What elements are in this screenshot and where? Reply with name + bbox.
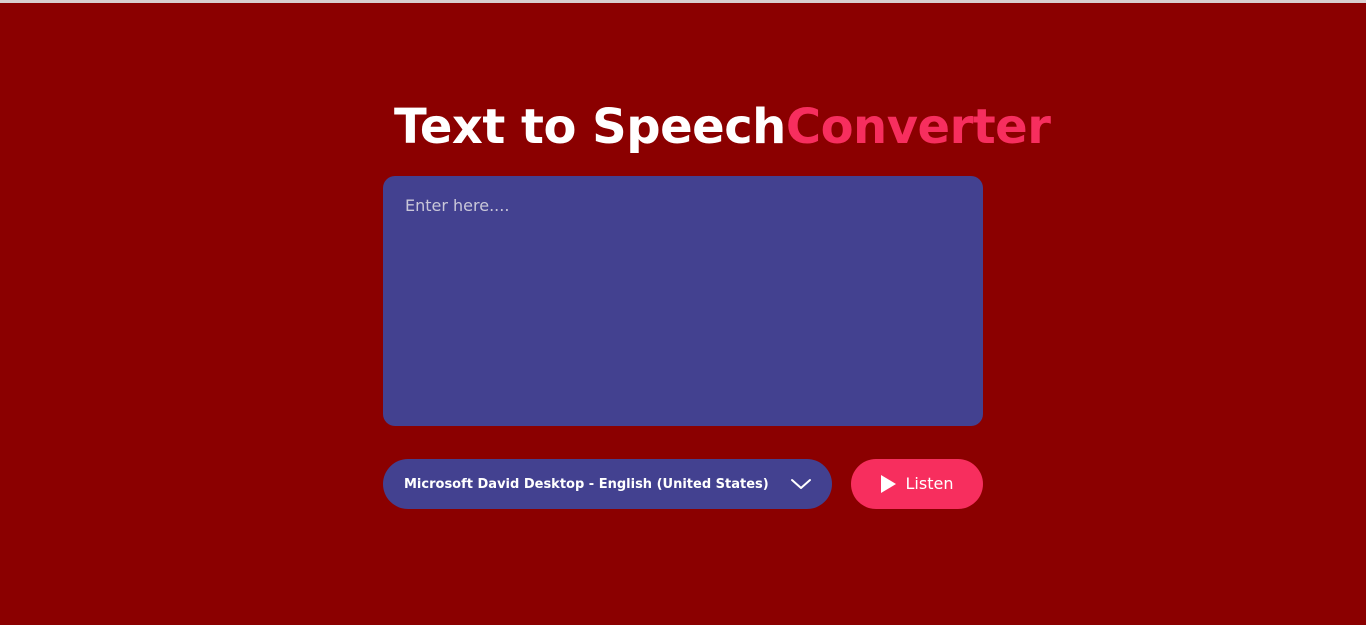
page-title-accent: Converter [786, 99, 1051, 155]
page-title: Text to SpeechConverter [394, 103, 1050, 151]
play-icon [881, 475, 896, 493]
listen-button[interactable]: Listen [851, 459, 983, 509]
controls-row: Microsoft David Desktop - English (Unite… [383, 459, 983, 509]
listen-button-label: Listen [906, 476, 954, 492]
text-input[interactable] [383, 176, 983, 426]
voice-select-wrapper: Microsoft David Desktop - English (Unite… [383, 459, 832, 509]
text-to-speech-app: Text to SpeechConverter Microsoft David … [0, 3, 1366, 625]
page-title-main: Text to Speech [394, 99, 786, 155]
voice-select[interactable]: Microsoft David Desktop - English (Unite… [383, 459, 832, 509]
